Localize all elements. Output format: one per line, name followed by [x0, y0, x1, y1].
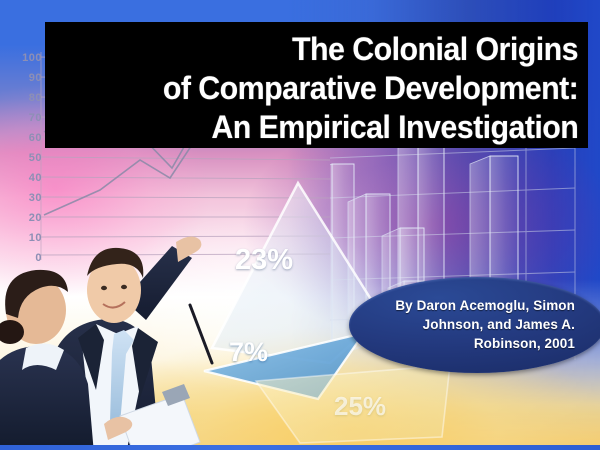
presentation-slide: 100 90 80 70 60 50 40 30 20 10 0	[0, 0, 600, 450]
business-people-photo	[0, 228, 206, 450]
authors-line-2: Johnson, and James A.	[395, 315, 575, 334]
pie-label-25: 25%	[334, 391, 386, 422]
axis-tick: 90	[8, 68, 42, 88]
axis-tick: 20	[8, 208, 42, 228]
axis-tick: 60	[8, 128, 42, 148]
title-box: The Colonial Origins of Comparative Deve…	[45, 22, 588, 148]
mans-eye	[101, 286, 107, 290]
bottom-edge-strip	[0, 445, 600, 450]
authors-line-3: Robinson, 2001	[395, 334, 575, 353]
axis-tick: 80	[8, 88, 42, 108]
title-line-1: The Colonial Origins	[292, 30, 578, 69]
authors-text: By Daron Acemoglu, Simon Johnson, and Ja…	[395, 296, 575, 353]
pie-label-23: 23%	[235, 244, 293, 277]
pie-label-7: 7%	[229, 337, 268, 368]
authors-line-1: By Daron Acemoglu, Simon	[395, 296, 575, 315]
title-line-3: An Empirical Investigation	[211, 108, 578, 147]
axis-tick: 100	[8, 48, 42, 68]
authors-oval: By Daron Acemoglu, Simon Johnson, and Ja…	[349, 277, 600, 373]
title-line-2: of Comparative Development:	[163, 69, 578, 108]
axis-tick: 70	[8, 108, 42, 128]
axis-tick: 40	[8, 168, 42, 188]
axis-tick: 50	[8, 148, 42, 168]
axis-tick: 30	[8, 188, 42, 208]
mans-eye	[121, 285, 127, 289]
